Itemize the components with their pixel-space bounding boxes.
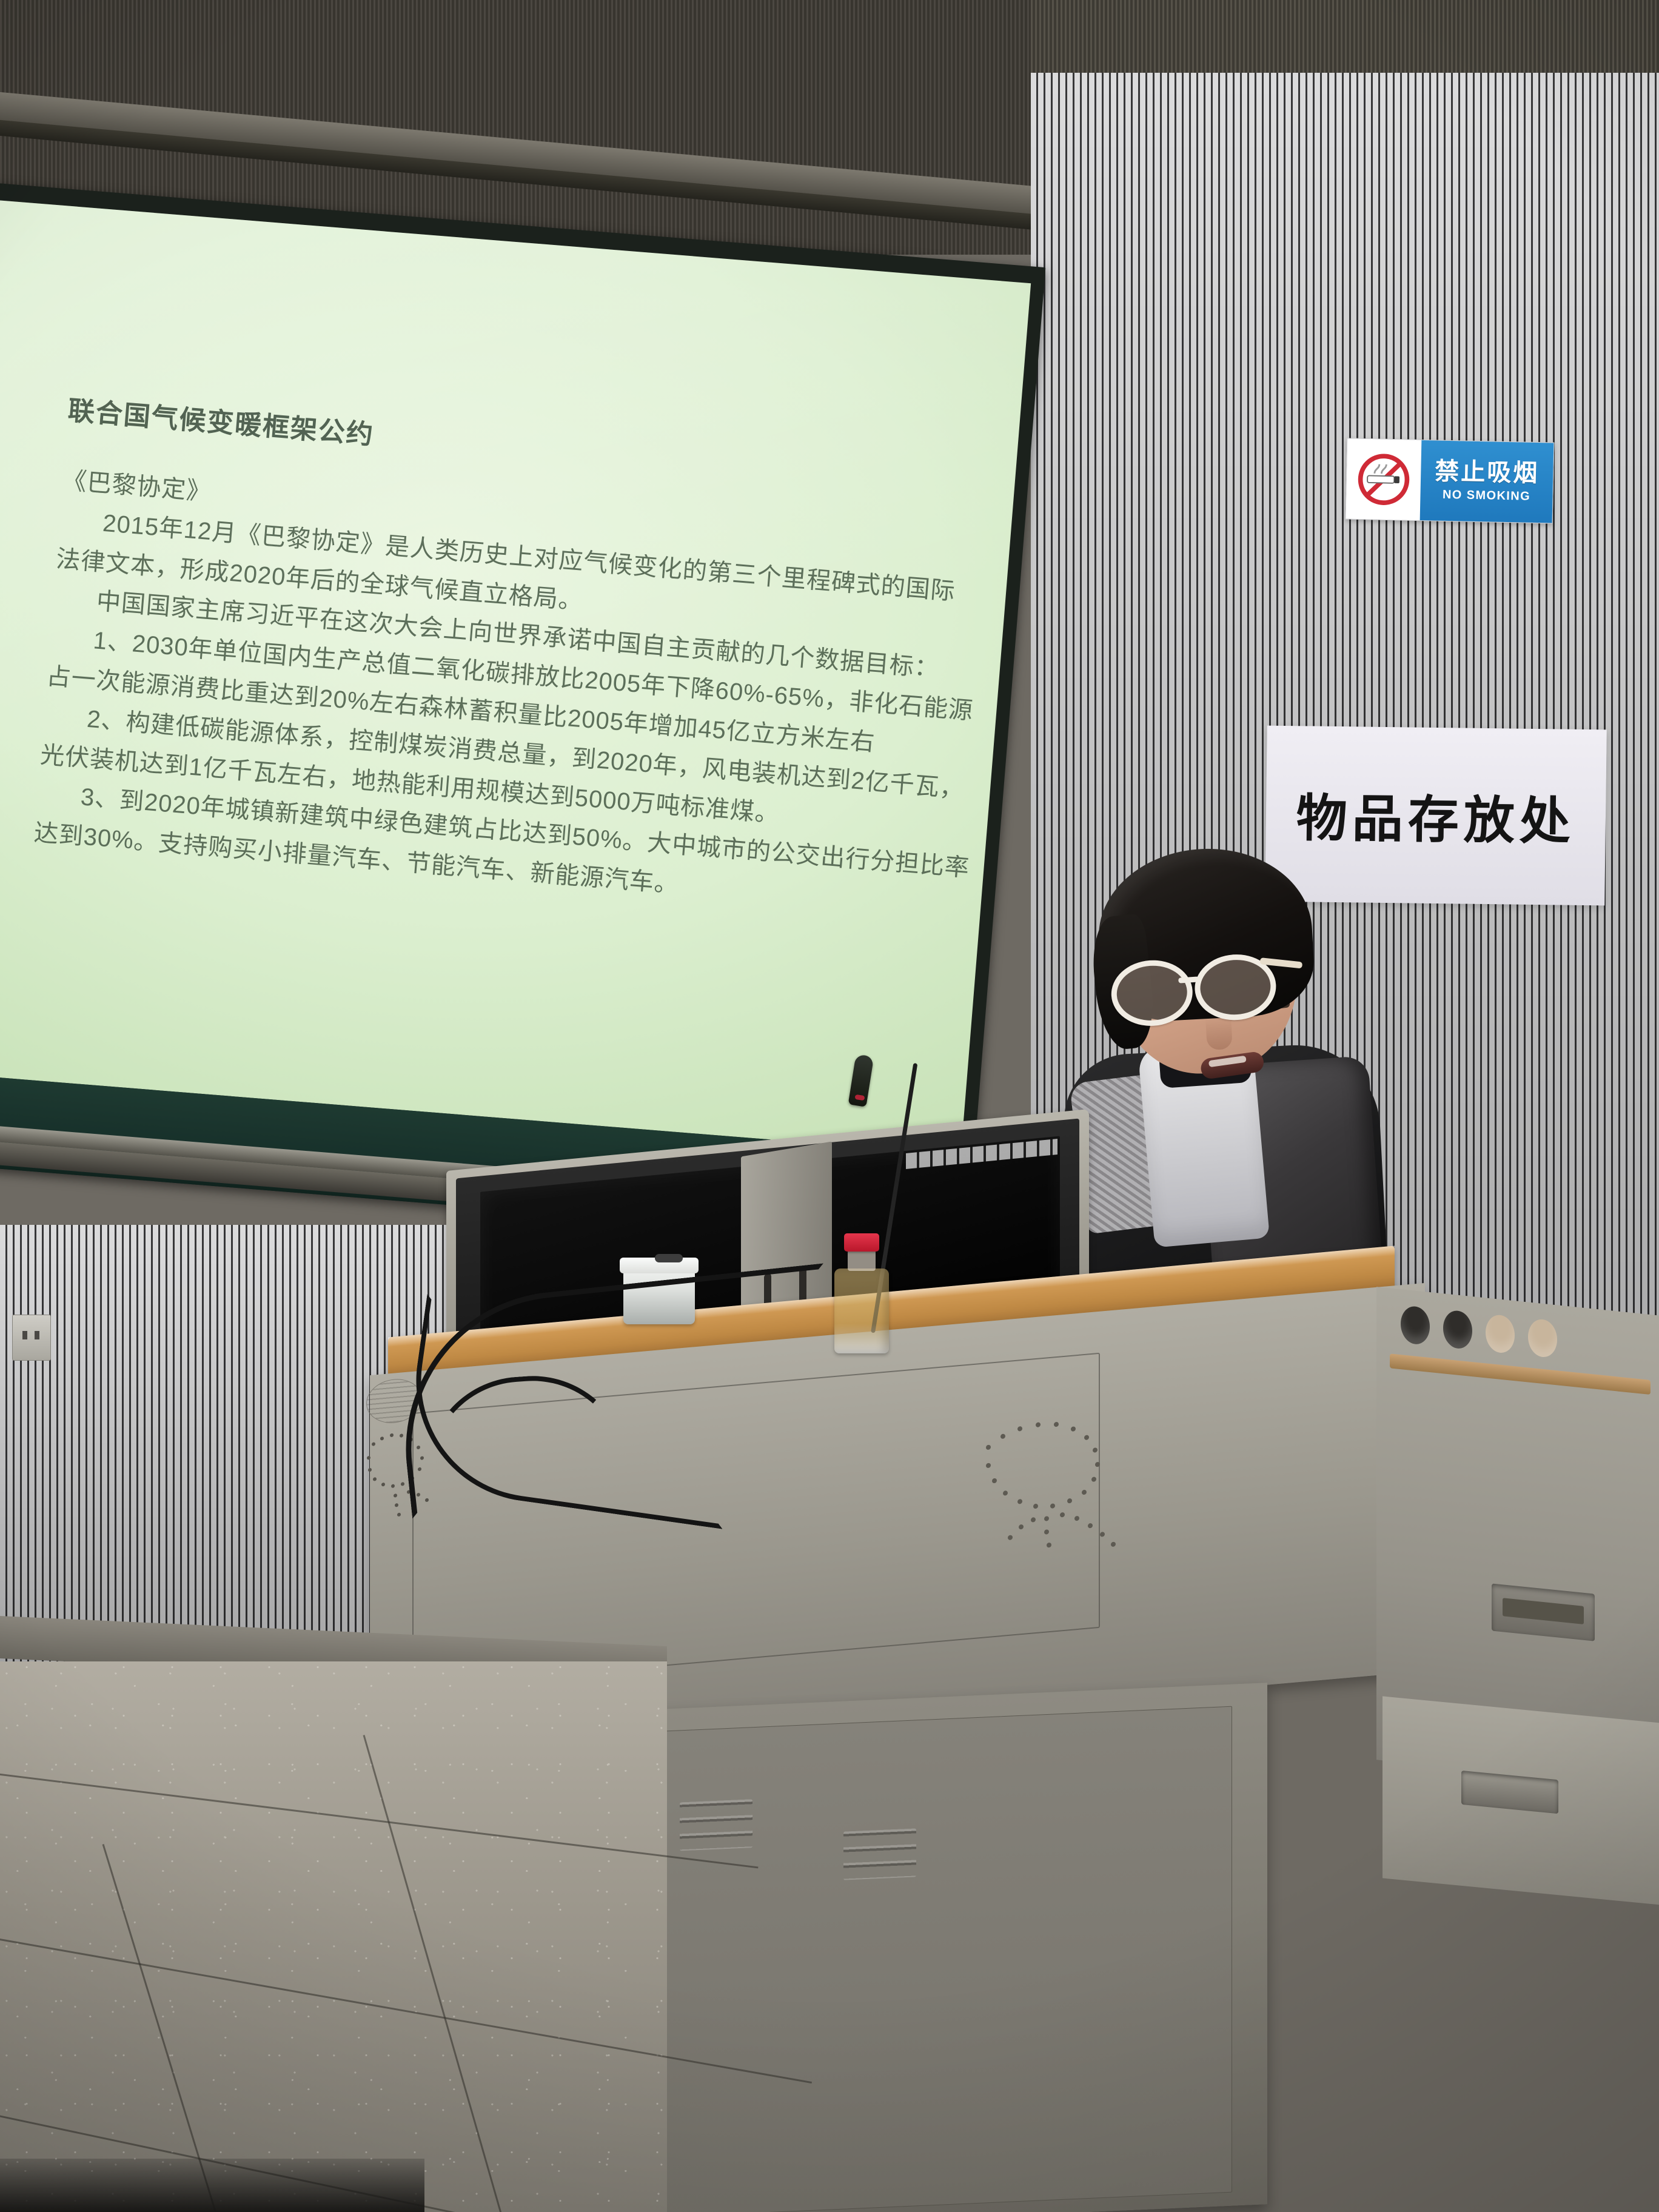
cup-lid-tab — [655, 1254, 683, 1262]
floor-shadow — [0, 2159, 424, 2212]
vent-hole — [1528, 1318, 1557, 1359]
projection-screen-assembly: 联合国气候变暖框架公约 《巴黎协定》 2015年12月《巴黎协定》是人类历史上对… — [0, 182, 1045, 1247]
vent-hole — [1486, 1313, 1515, 1354]
person-teeth — [1208, 1056, 1247, 1068]
cabinet-door[interactable] — [600, 1706, 1232, 2212]
no-smoking-icon — [1346, 438, 1422, 520]
storage-sign-label: 物品存放处 — [1296, 777, 1575, 854]
person-nose — [1205, 1017, 1233, 1050]
floor-texture — [0, 1661, 667, 2212]
podium-side-handle[interactable] — [1492, 1583, 1595, 1641]
floor — [0, 1661, 667, 2212]
projection-screen: 联合国气候变暖框架公约 《巴黎协定》 2015年12月《巴黎协定》是人类历史上对… — [0, 200, 1031, 1155]
slide-content: 联合国气候变暖框架公约 《巴黎协定》 2015年12月《巴黎协定》是人类历史上对… — [33, 389, 962, 925]
vent-hole — [1401, 1305, 1430, 1346]
wall-outlet[interactable] — [12, 1315, 51, 1361]
podium-perforation-logo — [970, 1393, 1188, 1570]
no-smoking-label-cn: 禁止吸烟 — [1435, 459, 1540, 486]
no-smoking-label-en: NO SMOKING — [1443, 488, 1531, 504]
bottle-cap — [844, 1233, 879, 1252]
drink-cup[interactable] — [623, 1265, 695, 1324]
vent-hole — [1443, 1309, 1472, 1350]
cabinet-vent-louver — [843, 1828, 916, 1880]
no-smoking-text-block: 禁止吸烟 NO SMOKING — [1420, 440, 1554, 523]
water-bottle[interactable] — [834, 1269, 889, 1353]
drawer-handle[interactable] — [1461, 1771, 1558, 1814]
podium-base-cabinet — [576, 1683, 1267, 2212]
cabinet-vent-louver — [680, 1799, 752, 1851]
no-smoking-sign: 禁止吸烟 NO SMOKING — [1346, 438, 1555, 523]
scene-root: 联合国气候变暖框架公约 《巴黎协定》 2015年12月《巴黎协定》是人类历史上对… — [0, 0, 1659, 2212]
podium-drawer[interactable] — [1382, 1696, 1659, 1905]
